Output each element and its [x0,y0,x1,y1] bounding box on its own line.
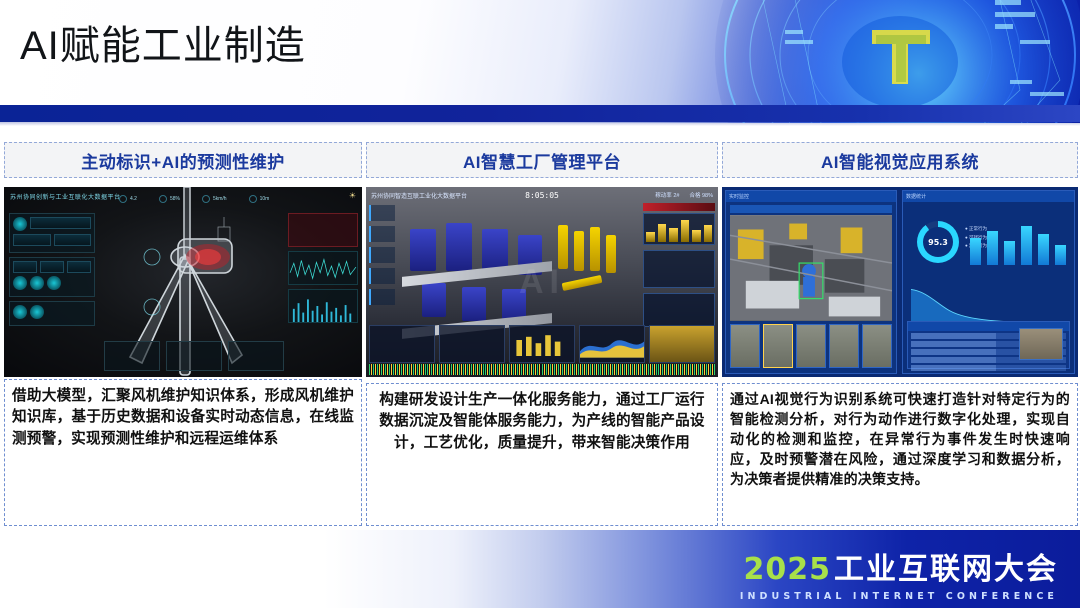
device-icon [30,305,44,319]
d3-thumbnail-selected[interactable] [763,324,793,368]
d3-area-chart [911,283,1066,325]
alert-banner [643,203,715,211]
card-1-image: 苏州协同创新与工业互联化大数据平台 4.2 58% 5km/h 10m ☀ [4,187,362,377]
card-2-image: 苏州协同智造互联工业化大数据平台 8:05:05 稼动率 2#合格 98% [366,187,718,377]
d3-alert-table [907,321,1070,369]
device-icon [13,276,27,290]
d2-metric-chip [369,247,395,263]
d3-video-feed [730,215,892,321]
d3-snapshot-thumb [1019,328,1063,360]
card-1-description: 借助大模型，汇聚风机维护知识体系，形成风机维护知识库，基于历史数据和设备实时动态… [4,379,362,526]
d3-right-panel-title: 数据统计 [903,191,1074,202]
d1-chip [54,234,92,246]
d2-gauge-panel [643,250,715,288]
cards-row: 主动标识+AI的预测性维护 苏州协同创新与工业互联化大数据平台 4.2 58% … [0,132,1080,527]
card-smart-factory-platform: AI智慧工厂管理平台 苏州协同智造互联工业化大数据平台 8:05:05 稼动率 … [366,132,718,527]
card-3-header: AI智能视觉应用系统 [722,142,1078,178]
d1-chip [13,261,37,273]
card-2-header-text: AI智慧工厂管理平台 [463,148,621,173]
d2-top-metrics: 稼动率 2#合格 98% [655,191,713,199]
device-icon [13,305,27,319]
machine-unit [410,229,436,271]
d3-bar-chart [970,221,1066,265]
card-1-header-text: 主动标识+AI的预测性维护 [81,148,284,173]
d3-thumbnail-strip[interactable] [730,324,892,368]
alarm-panel [288,213,358,247]
robot-arm [562,275,603,291]
d1-dashboard-title: 苏州协同创新与工业互联化大数据平台 [10,192,121,201]
device-icon [30,276,44,290]
d3-thumbnail[interactable] [796,324,826,368]
d1-metric-card [104,341,160,371]
machine-unit [422,283,446,317]
d1-panel [9,257,95,297]
d1-right-panels [288,213,358,327]
table-row [911,365,1066,371]
d2-bar-chart [643,213,715,245]
d2-kpi-panel [369,325,435,363]
d3-donut-gauge: 95.3 [917,221,959,263]
d2-info-panel [643,293,715,327]
d2-metric-chip [369,226,395,242]
d1-chip [13,234,51,246]
waveform-chart [288,251,358,285]
d2-left-metrics [369,205,395,335]
logo-name-cn: 工业互联网大会 [834,544,1058,588]
d1-left-panels [9,213,95,330]
d1-chip [30,217,91,229]
page-title: AI赋能工业制造 [20,22,306,70]
conference-logo: 2025 工业互联网大会 INDUSTRIAL INTERNET CONFERE… [740,544,1058,602]
d2-metric-chip [369,205,395,221]
d2-clock: 8:05:05 [525,191,559,200]
d3-left-panel-title: 实时监控 [726,191,896,202]
machine-unit [446,223,472,271]
d3-thumbnail[interactable] [862,324,892,368]
d3-gauge-value: 95.3 [928,238,948,247]
d2-bar-panel [509,325,575,363]
weather-icon: ☀ [349,191,356,200]
d1-chip [40,261,64,273]
d3-left-panel: 实时监控 [725,190,897,374]
card-1-header: 主动标识+AI的预测性维护 [4,142,362,178]
robot-arm [558,225,568,269]
d2-bottom-panels [369,325,715,363]
d1-panel [9,213,95,253]
d3-video-toolbar [730,205,892,213]
slide-footer: 2025 工业互联网大会 INDUSTRIAL INTERNET CONFERE… [0,530,1080,608]
card-2-description: 构建研发设计生产一体化服务能力，通过工厂运行数据沉淀及智能体服务能力，为产线的智… [366,383,718,526]
d1-panel [9,301,95,326]
d2-status-strip [369,364,715,375]
logo-name-en: INDUSTRIAL INTERNET CONFERENCE [740,591,1058,602]
d1-metric-card [228,341,284,371]
card-ai-vision-system: AI智能视觉应用系统 实时监控 [722,132,1078,527]
d2-camera-panel [649,325,715,363]
robot-arm [606,235,616,273]
card-3-image: 实时监控 [722,187,1078,377]
d1-bottom-cards [104,341,284,371]
device-icon [47,276,61,290]
robot-arm [590,227,600,271]
header-divider-bar [0,105,1080,122]
d2-area-panel [579,325,645,363]
factory-3d-scene [402,209,632,339]
spectrum-chart [288,289,358,323]
d1-metric-card [166,341,222,371]
d2-dashboard-title: 苏州协同智造互联工业化大数据平台 [371,191,467,200]
card-predictive-maintenance: 主动标识+AI的预测性维护 苏州协同创新与工业互联化大数据平台 4.2 58% … [4,132,362,527]
machine-unit [462,287,486,321]
card-2-header: AI智慧工厂管理平台 [366,142,718,178]
d3-thumbnail[interactable] [730,324,760,368]
d2-metric-chip [369,268,395,284]
d1-chip [67,261,91,273]
d2-right-panels [643,213,715,332]
device-icon [13,217,27,231]
header-divider-shadow [0,122,1080,126]
d3-right-panel: 数据统计 95.3 ● 正常行为● 可疑行为● 异常行为 [902,190,1075,374]
d2-gauge-panel [439,325,505,363]
card-3-header-text: AI智能视觉应用系统 [821,148,979,173]
d3-thumbnail[interactable] [829,324,859,368]
d2-metric-chip [369,289,395,305]
card-3-description: 通过AI视觉行为识别系统可快速打造针对特定行为的智能检测分析，对行为动作进行数字… [722,383,1078,526]
robot-arm [574,231,584,271]
logo-year: 2025 [744,552,832,587]
